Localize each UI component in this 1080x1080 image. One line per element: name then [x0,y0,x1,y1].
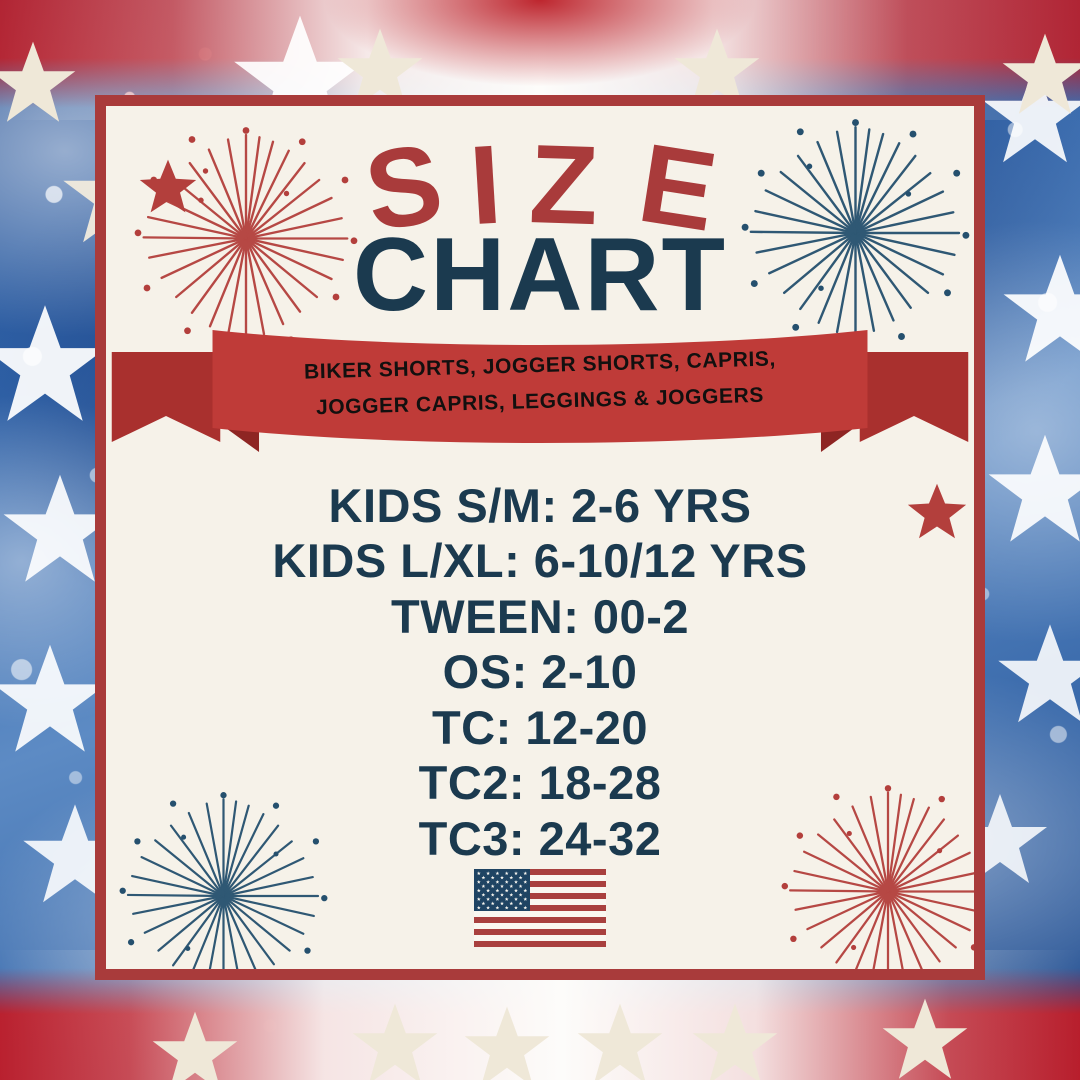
title-letter: I [466,120,505,251]
size-list-item: TC3: 24-32 [106,811,974,866]
background-star [0,640,110,760]
title-letter: Z [528,119,601,250]
ribbon-banner: BIKER SHORTS, JOGGER SHORTS, CAPRIS, JOG… [106,324,974,464]
page-title-size: SIZE [106,120,974,232]
ribbon-shape [106,324,974,464]
background-star [985,430,1080,550]
size-chart-graphic: SIZE CHART BIKER SHORTS [0,0,1080,1080]
american-flag-icon [474,869,606,947]
background-star [350,1000,440,1080]
title-block: SIZE CHART [106,120,974,326]
size-list: KIDS S/M: 2-6 YRSKIDS L/XL: 6-10/12 YRST… [106,478,974,866]
background-star [0,38,78,128]
background-star [0,300,110,430]
background-star [150,1008,240,1080]
background-star [995,620,1080,730]
background-star [1000,30,1080,120]
size-list-item: TC2: 18-28 [106,755,974,810]
chart-panel: SIZE CHART BIKER SHORTS [106,106,974,969]
background-star [462,1003,552,1080]
size-list-item: KIDS L/XL: 6-10/12 YRS [106,533,974,588]
size-list-item: KIDS S/M: 2-6 YRS [106,478,974,533]
background-star [880,995,970,1080]
size-list-item: TWEEN: 00-2 [106,589,974,644]
background-star [575,1000,665,1080]
size-list-item: OS: 2-10 [106,644,974,699]
background-star [690,1000,780,1080]
background-star [1000,250,1080,370]
size-list-item: TC: 12-20 [106,700,974,755]
chart-frame: SIZE CHART BIKER SHORTS [95,95,985,980]
